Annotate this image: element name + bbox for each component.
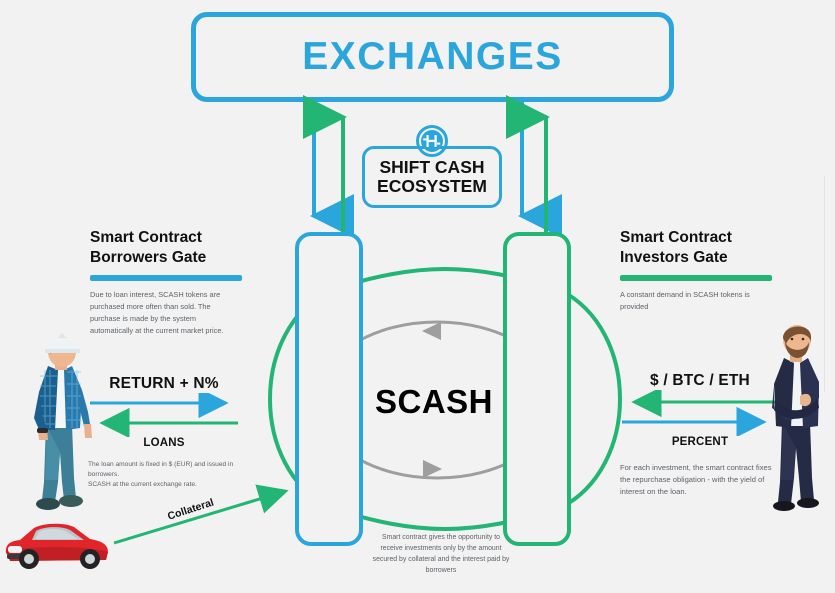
borrowers-gate-column[interactable]: [295, 232, 363, 546]
loop-arrow-top: [422, 322, 441, 340]
ecosystem-line-2: ECOSYSTEM: [377, 177, 487, 196]
shift-cash-logo-icon: [415, 124, 449, 158]
scash-circulation-loop: [0, 0, 835, 593]
scash-token-label: SCASH: [374, 383, 494, 421]
smart-contract-caption: Smart contract gives the opportunity to …: [371, 533, 511, 577]
red-car-icon: [2, 515, 114, 571]
diagram-canvas: EXCHANGES SHIFT CASH ECOSYSTEM Smart Con…: [0, 0, 835, 593]
loop-arrow-bottom: [423, 460, 442, 478]
ecosystem-line-1: SHIFT CASH: [380, 158, 485, 177]
borrower-person-icon: [14, 332, 100, 517]
investor-person-icon: [762, 322, 832, 522]
investors-gate-column[interactable]: [503, 232, 571, 546]
